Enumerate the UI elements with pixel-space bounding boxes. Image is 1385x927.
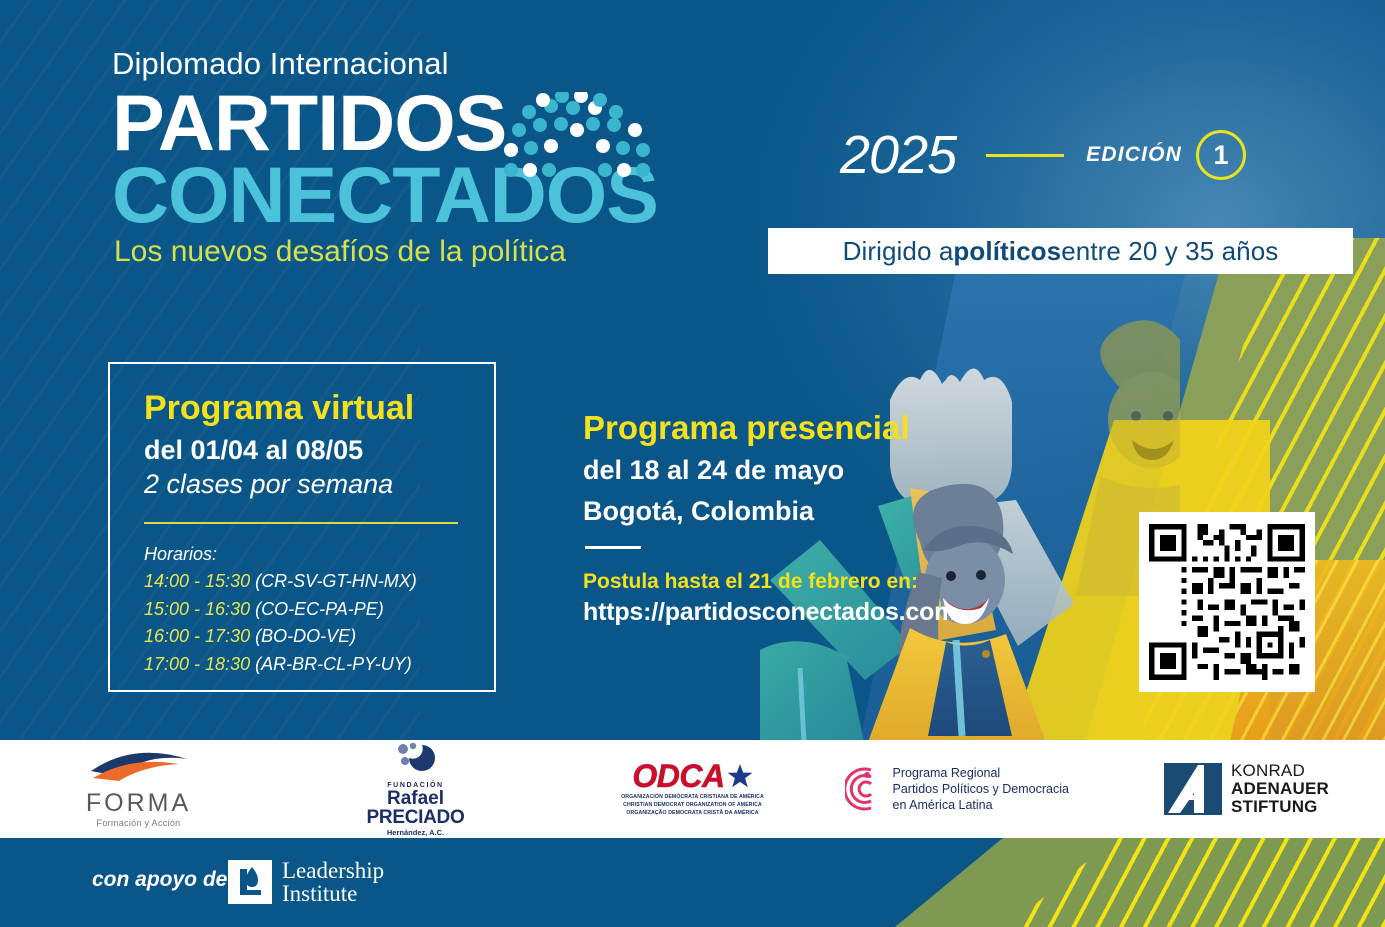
bottom-support-bar: con apoyo de Leadership Institute [0,838,1385,927]
schedule-countries: (CO-EC-PA-PE) [255,599,384,619]
schedule-row: 16:00 - 17:30 (BO-DO-VE) [144,623,464,650]
forma-tagline: Formación y Acción [80,818,198,828]
kas-line2: ADENAUER [1231,780,1329,798]
kas-mark-icon [1164,763,1222,815]
tagline-text: Los nuevos desafíos de la política [114,236,732,268]
apply-deadline-label: Postula hasta el 21 de febrero en: [583,570,1053,594]
presencial-program-dates: del 18 al 24 de mayo [583,454,1053,486]
logo-slot-kas: KONRAD ADENAUER STIFTUNG [1108,762,1385,817]
programa-regional-line3: en América Latina [893,797,1069,813]
logo-slot-odca: ODCA ORGANIZACIÓN DEMÓCRATA CRISTIANA DE… [554,760,831,817]
parliament-dots-icon [503,92,651,178]
edition-divider-line [986,154,1064,157]
kicker-text: Diplomado Internacional [112,48,732,79]
logo-slot-rafael-preciado: FUNDACIÓN Rafael PRECIADO Hernández, A.C… [277,742,554,837]
forma-swoosh-icon [87,750,191,784]
schedule-label: Horarios: [144,544,464,565]
schedule-time: 16:00 - 17:30 [144,626,250,646]
audience-bold: políticos [953,236,1061,267]
edition-row: 2025 EDICIÓN 1 [840,128,1246,182]
leadership-line1: Leadership [282,859,384,882]
presencial-program-title: Programa presencial [583,410,1053,446]
virtual-program-title: Programa virtual [144,390,464,427]
audience-prefix: Dirigido a [843,236,954,267]
odca-subtitle-pt: ORGANIZAÇÃO DEMOCRATA CRISTÃ DA AMÉRICA [613,810,773,818]
schedule-countries: (BO-DO-VE) [255,626,356,646]
presencial-divider [585,546,641,549]
edition-label: EDICIÓN [1086,143,1182,167]
odca-subtitle-en: CHRISTIAN DEMOCRAT ORGANIZATION OF AMERI… [613,802,773,810]
audience-banner: Dirigido a políticos entre 20 y 35 años [768,228,1353,274]
virtual-program-box: Programa virtual del 01/04 al 08/05 2 cl… [108,362,496,692]
odca-wordmark: ODCA [632,760,724,792]
kas-wordmark: KONRAD ADENAUER STIFTUNG [1231,762,1329,817]
schedule-row: 15:00 - 16:30 (CO-EC-PA-PE) [144,596,464,623]
forma-logo: FORMA Formación y Acción [80,750,198,828]
odca-top-row: ODCA [613,760,773,792]
programa-regional-logo: Programa Regional Partidos Políticos y D… [845,765,1095,813]
rafael-preciado-line2: PRECIADO [361,808,471,827]
schedule-row: 17:00 - 18:30 (AR-BR-CL-PY-UY) [144,651,464,678]
schedule-time: 17:00 - 18:30 [144,654,250,674]
odca-star-icon [727,763,753,789]
schedule-countries: (AR-BR-CL-PY-UY) [255,654,412,674]
rafael-preciado-line3: Hernández, A.C. [361,828,471,837]
virtual-divider [144,522,458,524]
odca-subtitle: ORGANIZACIÓN DEMÓCRATA CRISTIANA DE AMÉR… [613,794,773,817]
leadership-institute-wordmark: Leadership Institute [282,859,384,906]
kas-line1: KONRAD [1231,762,1329,780]
schedule-countries: (CR-SV-GT-HN-MX) [255,571,417,591]
schedule-time: 15:00 - 16:30 [144,599,250,619]
odca-logo: ODCA ORGANIZACIÓN DEMÓCRATA CRISTIANA DE… [613,760,773,817]
edition-number-badge: 1 [1196,130,1246,180]
programa-regional-arcs-icon [845,766,887,812]
qr-code[interactable] [1139,512,1315,692]
virtual-program-dates: del 01/04 al 08/05 [144,435,464,466]
programa-regional-line1: Programa Regional [893,765,1069,781]
poster-root: Diplomado Internacional PARTIDOS CONECTA… [0,0,1385,927]
schedule-time: 14:00 - 15:30 [144,571,250,591]
kas-logo: KONRAD ADENAUER STIFTUNG [1164,762,1329,817]
odca-subtitle-es: ORGANIZACIÓN DEMÓCRATA CRISTIANA DE AMÉR… [613,794,773,802]
kas-line3: STIFTUNG [1231,798,1329,816]
presencial-program-location: Bogotá, Colombia [583,495,1053,527]
programa-regional-text: Programa Regional Partidos Políticos y D… [893,765,1069,813]
logo-slot-programa-regional: Programa Regional Partidos Políticos y D… [831,765,1108,813]
schedule-row: 14:00 - 15:30 (CR-SV-GT-HN-MX) [144,568,464,595]
support-label: con apoyo de [92,868,227,892]
apply-url[interactable]: https://partidosconectados.com [583,598,1053,627]
rafael-preciado-line1: Rafael [361,789,471,808]
presencial-program-block: Programa presencial del 18 al 24 de mayo… [583,410,1053,627]
rafael-preciado-logo: FUNDACIÓN Rafael PRECIADO Hernández, A.C… [361,742,471,837]
partner-logo-bar: FORMA Formación y Acción FUNDACIÓN Rafae… [0,740,1385,838]
leadership-institute-mark-icon [228,860,272,904]
forma-wordmark: FORMA [80,791,198,816]
rafael-preciado-circles-icon [391,742,441,774]
year-text: 2025 [840,128,956,182]
logo-slot-forma: FORMA Formación y Acción [0,750,277,828]
programa-regional-line2: Partidos Políticos y Democracia [893,781,1069,797]
leadership-institute-logo: Leadership Institute [228,859,384,906]
audience-suffix: entre 20 y 35 años [1061,236,1278,267]
leadership-line2: Institute [282,882,384,905]
virtual-program-frequency: 2 clases por semana [144,469,464,500]
